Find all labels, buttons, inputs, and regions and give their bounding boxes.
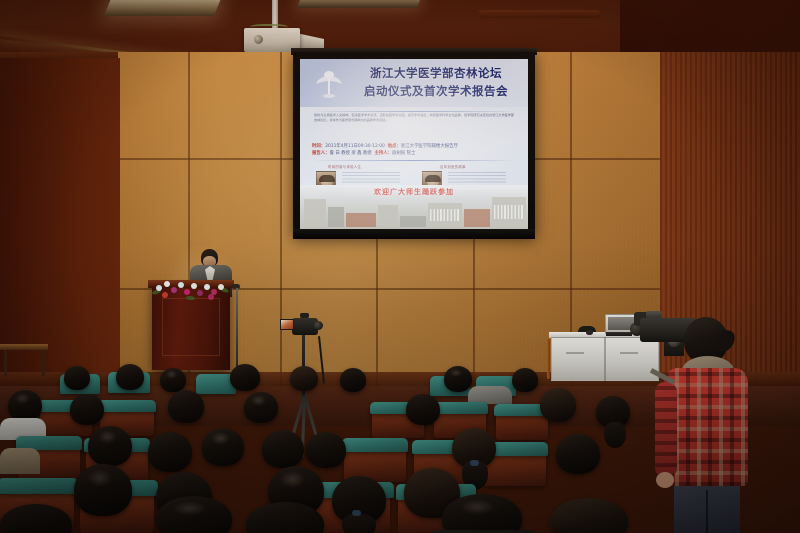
audience-head bbox=[160, 368, 186, 392]
panel-seam bbox=[280, 52, 282, 388]
flower bbox=[184, 289, 190, 295]
campus-building bbox=[328, 207, 344, 227]
slide-caption-right: 百年浙医的故事 bbox=[440, 164, 466, 169]
slide-caption-left: 时间的新与体验人生 bbox=[328, 164, 361, 169]
seat bbox=[342, 438, 408, 452]
audience-head bbox=[8, 390, 42, 421]
side-table bbox=[0, 344, 48, 350]
cabinet-handle[interactable] bbox=[566, 352, 584, 354]
audience-head bbox=[168, 390, 204, 423]
podium-front-panel bbox=[162, 298, 220, 356]
campus-building bbox=[346, 213, 376, 227]
audience-head-front bbox=[156, 496, 232, 533]
slide-body-text: 我校为弘扬医学人文精神、促进医学学术交流、活跃校园学术氛围、提高学术品位，构建医… bbox=[314, 113, 514, 122]
audience-head bbox=[70, 394, 104, 425]
audience-shoulders bbox=[0, 448, 40, 474]
slide-title-line2: 启动仪式及首次学术报告会 bbox=[348, 82, 524, 100]
slide-host-label: 主持人： bbox=[374, 151, 392, 156]
slide-divider bbox=[312, 111, 516, 112]
ceiling-light-panel-2 bbox=[297, 0, 423, 8]
flower-arrangement bbox=[150, 276, 236, 302]
audience-head bbox=[244, 392, 278, 423]
slide-info-row-time: 时间：2011年4月11日09:30-12:00 地点：浙江大学医学院辅楼大报告… bbox=[312, 143, 518, 150]
slide-time-label: 时间： bbox=[312, 144, 325, 149]
audience-head bbox=[512, 368, 538, 392]
audience-head-front bbox=[442, 494, 522, 533]
slide-speaker-value: 鲁 白 教授 梁 鑫 教授 bbox=[330, 151, 372, 156]
flower bbox=[197, 290, 203, 296]
audience-head bbox=[230, 364, 260, 391]
left-wall bbox=[0, 58, 120, 388]
cabinet-handle[interactable] bbox=[620, 352, 638, 354]
projector-lens-icon bbox=[254, 35, 263, 44]
campus-building bbox=[304, 199, 326, 227]
audience-head bbox=[444, 366, 472, 392]
flower bbox=[171, 287, 177, 293]
leaf bbox=[186, 296, 195, 301]
audience-head bbox=[88, 426, 132, 466]
audience-head bbox=[306, 432, 346, 468]
audience-head bbox=[406, 394, 440, 425]
ponytail bbox=[342, 514, 376, 533]
microphone-stand bbox=[236, 288, 238, 372]
seat bbox=[0, 478, 78, 494]
camcorder-lens-icon bbox=[314, 321, 323, 330]
lecture-hall-photo: 浙江大学医学部杏林论坛 启动仪式及首次学术报告会 我校为弘扬医学人文精神、促进医… bbox=[0, 0, 800, 533]
audience-head bbox=[290, 366, 318, 391]
campus-building bbox=[400, 216, 426, 227]
slide-place-label: 地点： bbox=[388, 144, 401, 149]
flower bbox=[208, 294, 214, 300]
audience-head bbox=[64, 366, 90, 390]
flower bbox=[191, 283, 197, 289]
flower bbox=[164, 281, 170, 287]
audience-head bbox=[74, 464, 132, 516]
ponytail bbox=[604, 422, 626, 448]
flower bbox=[156, 285, 162, 291]
slide-title: 浙江大学医学部杏林论坛 启动仪式及首次学术报告会 bbox=[348, 64, 524, 100]
projector-cable bbox=[250, 24, 288, 31]
projection-screen: 浙江大学医学部杏林论坛 启动仪式及首次学术报告会 我校为弘扬医学人文精神、促进医… bbox=[300, 59, 528, 229]
slide-divider-2 bbox=[312, 160, 516, 161]
audience-head bbox=[556, 434, 600, 474]
audience-head-front bbox=[550, 498, 628, 533]
building-windows bbox=[430, 209, 460, 221]
caduceus-medical-emblem-icon bbox=[314, 67, 344, 99]
flower bbox=[218, 284, 224, 290]
slide-speaker-label: 报告人： bbox=[312, 151, 330, 156]
ceiling-light-panel bbox=[104, 0, 222, 16]
ceiling-shadow-corner bbox=[620, 0, 800, 60]
campus-building bbox=[464, 209, 490, 227]
screen-weight-bar bbox=[293, 229, 535, 239]
audience-head bbox=[340, 368, 366, 392]
mouse-icon[interactable] bbox=[586, 330, 593, 335]
audience-head bbox=[540, 388, 576, 422]
seat bbox=[432, 402, 488, 414]
flower bbox=[162, 292, 168, 298]
slide-info-row-speaker: 报告人：鲁 白 教授 梁 鑫 教授 主持人：段树民 院士 bbox=[312, 150, 518, 157]
hair-tie bbox=[352, 510, 361, 516]
camcorder-lcd-screen bbox=[280, 319, 294, 330]
audience-head bbox=[262, 430, 304, 468]
hair-tie bbox=[470, 460, 479, 466]
audience-head bbox=[202, 428, 244, 466]
seat bbox=[98, 400, 156, 412]
flower bbox=[178, 282, 184, 288]
campus-building bbox=[378, 205, 398, 227]
slide-welcome-banner: 欢迎广大师生踊跃参加 bbox=[300, 187, 528, 197]
slide-place-value: 浙江大学医学院辅楼大报告厅 bbox=[401, 144, 458, 149]
ceiling-vent bbox=[479, 10, 602, 18]
keyboard[interactable] bbox=[606, 332, 632, 336]
slide-time-value: 2011年4月11日09:30-12:00 bbox=[325, 144, 385, 149]
slide-title-line1: 浙江大学医学部杏林论坛 bbox=[348, 64, 524, 82]
audience-head bbox=[148, 432, 192, 472]
audience-head bbox=[116, 364, 144, 390]
flower bbox=[204, 284, 210, 290]
audience-seating-area bbox=[0, 372, 800, 533]
building-windows bbox=[494, 205, 524, 219]
slide-host-value: 段树民 院士 bbox=[392, 151, 415, 156]
